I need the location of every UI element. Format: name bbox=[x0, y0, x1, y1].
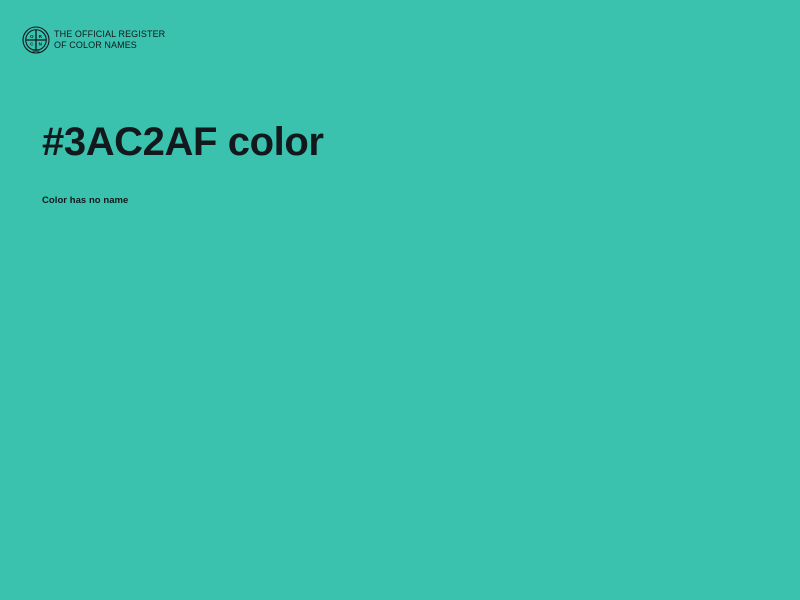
svg-text:R: R bbox=[39, 34, 43, 39]
register-seal-icon: O R C N bbox=[22, 26, 50, 54]
brand-wordmark-line-1: THE OFFICIAL REGISTER bbox=[54, 29, 165, 40]
brand-header[interactable]: O R C N THE OFFICIAL REGISTER OF COLOR N… bbox=[22, 26, 165, 54]
color-page: O R C N THE OFFICIAL REGISTER OF COLOR N… bbox=[0, 0, 800, 600]
page-title: #3AC2AF color bbox=[42, 120, 742, 164]
svg-text:O: O bbox=[30, 34, 34, 39]
brand-wordmark: THE OFFICIAL REGISTER OF COLOR NAMES bbox=[54, 29, 165, 50]
main-content: #3AC2AF color Color has no name bbox=[42, 120, 742, 207]
brand-wordmark-line-2: OF COLOR NAMES bbox=[54, 40, 165, 51]
svg-text:C: C bbox=[30, 41, 34, 46]
color-name-status: Color has no name bbox=[42, 164, 742, 207]
svg-text:N: N bbox=[39, 41, 42, 46]
